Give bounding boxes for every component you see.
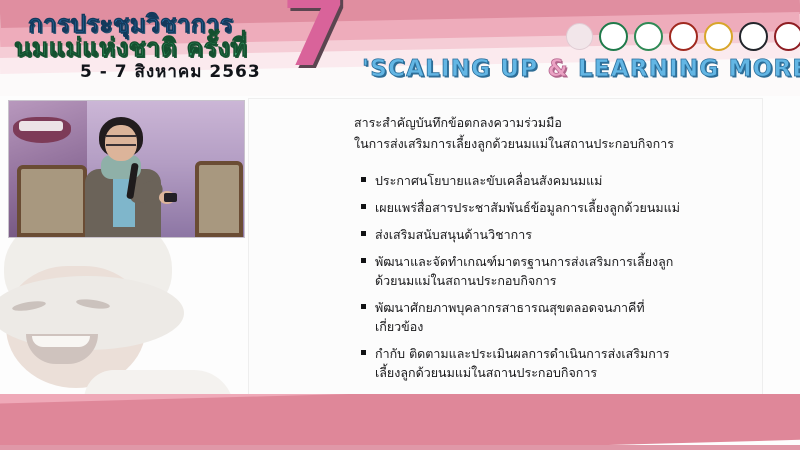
bullet-text-line-1: พัฒนาและจัดทำเกณฑ์มาตรฐานการส่งเสริมการเ… — [375, 254, 673, 269]
slide-header-banner: 7 การประชุมวิชาการ นมแม่แห่งชาติ ครั้งที… — [0, 0, 800, 96]
bullet-text-line-1: ประกาศนโยบายและขับเคลื่อนสังคมนมแม่ — [375, 173, 602, 188]
ribbon-dark-band — [0, 394, 800, 450]
content-bullet-list: ประกาศนโยบายและขับเคลื่อนสังคมนมแม่ เผยแ… — [361, 171, 756, 390]
ribbon-bottom-edge — [0, 445, 800, 450]
bullet-square-icon — [361, 304, 366, 309]
sponsor-logo-strip: สสส — [566, 22, 800, 51]
bullet-text: ประกาศนโยบายและขับเคลื่อนสังคมนมแม่ — [375, 171, 756, 190]
bullet-text: พัฒนาและจัดทำเกณฑ์มาตรฐานการส่งเสริมการเ… — [375, 252, 756, 290]
logo-thai-royal-emblem — [566, 23, 593, 50]
bullet-square-icon — [361, 350, 366, 355]
stage-chair-left — [17, 165, 87, 237]
tagline-text-post: LEARNING MORE' — [569, 56, 800, 82]
tagline-ampersand: & — [548, 56, 569, 82]
conference-date: 5 - 7 สิงหาคม 2563 — [80, 58, 261, 85]
bullet-text-line-2: เกี่ยวข้อง — [375, 317, 756, 336]
bullet-text: กำกับ ติดตามและประเมินผลการดำเนินการส่งเ… — [375, 344, 756, 382]
bullet-text: พัฒนาศักยภาพบุคลากรสาธารณสุขตลอดจนภาคีที… — [375, 298, 756, 336]
logo-pediatric-society — [599, 22, 628, 51]
list-item: ส่งเสริมสนับสนุนด้านวิชาการ — [361, 225, 756, 244]
bullet-text-line-1: พัฒนาศักยภาพบุคลากรสาธารณสุขตลอดจนภาคีที… — [375, 300, 645, 315]
list-item: พัฒนาศักยภาพบุคลากรสาธารณสุขตลอดจนภาคีที… — [361, 298, 756, 336]
slide-content-panel: สาระสำคัญบันทึกข้อตกลงความร่วมมือ ในการส… — [248, 98, 763, 416]
list-item: ประกาศนโยบายและขับเคลื่อนสังคมนมแม่ — [361, 171, 756, 190]
bullet-square-icon — [361, 231, 366, 236]
speaker-glasses — [106, 135, 136, 146]
presenter-clicker-icon — [164, 193, 177, 202]
bullet-text-line-1: เผยแพร่สื่อสารประชาสัมพันธ์ข้อมูลการเลี้… — [375, 200, 680, 215]
list-item: พัฒนาและจัดทำเกณฑ์มาตรฐานการส่งเสริมการเ… — [361, 252, 756, 290]
tagline-text-pre: 'SCALING UP — [362, 56, 548, 82]
bullet-text: เผยแพร่สื่อสารประชาสัมพันธ์ข้อมูลการเลี้… — [375, 198, 756, 217]
bullet-text-line-1: กำกับ ติดตามและประเมินผลการดำเนินการส่งเ… — [375, 346, 670, 361]
content-heading: สาระสำคัญบันทึกข้อตกลงความร่วมมือ ในการส… — [354, 112, 754, 154]
logo-royal-college — [704, 22, 733, 51]
backdrop-teeth-graphic — [19, 121, 63, 131]
logo-ministry-public-health — [669, 22, 698, 51]
bullet-text: ส่งเสริมสนับสนุนด้านวิชาการ — [375, 225, 756, 244]
conference-ordinal-number: 7 — [281, 0, 346, 80]
child-teeth — [32, 336, 90, 347]
presentation-slide: 7 การประชุมวิชาการ นมแม่แห่งชาติ ครั้งที… — [0, 0, 800, 450]
content-heading-line-2: ในการส่งเสริมการเลี้ยงลูกด้วยนมแม่ในสถาน… — [354, 133, 754, 154]
stage-chair-right — [195, 161, 243, 237]
list-item: เผยแพร่สื่อสารประชาสัมพันธ์ข้อมูลการเลี้… — [361, 198, 756, 217]
logo-medical-association — [774, 22, 800, 51]
speaker-video[interactable] — [8, 100, 245, 238]
content-heading-line-1: สาระสำคัญบันทึกข้อตกลงความร่วมมือ — [354, 112, 754, 133]
logo-thai-breastfeeding-centre — [739, 22, 768, 51]
conference-tagline: 'SCALING UP & LEARNING MORE' — [362, 56, 800, 82]
bullet-text-line-2: เลี้ยงลูกด้วยนมแม่ในสถานประกอบกิจการ — [375, 363, 756, 382]
bullet-text-line-2: ด้วยนมแม่ในสถานประกอบกิจการ — [375, 271, 756, 290]
bullet-square-icon — [361, 177, 366, 182]
bullet-square-icon — [361, 204, 366, 209]
child-background-photo — [0, 214, 256, 420]
list-item: กำกับ ติดตามและประเมินผลการดำเนินการส่งเ… — [361, 344, 756, 382]
bullet-square-icon — [361, 258, 366, 263]
logo-nursing-council — [634, 22, 663, 51]
bottom-ribbon — [0, 394, 800, 450]
bullet-text-line-1: ส่งเสริมสนับสนุนด้านวิชาการ — [375, 227, 532, 242]
